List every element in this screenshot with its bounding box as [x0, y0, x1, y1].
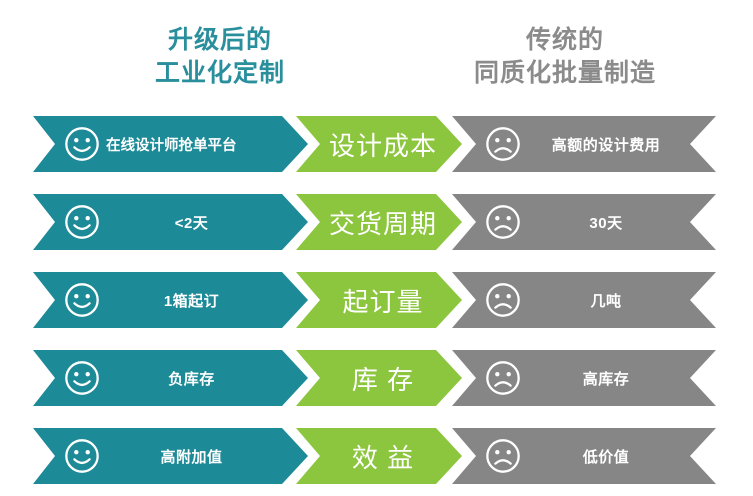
row-3-left-label: 1箱起订 [105, 290, 278, 311]
heading-traditional-line2: 同质化批量制造 [400, 57, 730, 90]
smiley-happy-face-icon [63, 203, 101, 241]
row-2-left-banner: <2天 [33, 194, 308, 250]
row-5-right-label: 低价值 [532, 446, 680, 467]
row-2-center-banner: 交货周期 [296, 194, 462, 250]
row-1-category-label: 设计成本 [312, 126, 454, 163]
comparison-row: 高附加值 效 益 低价值 [0, 428, 753, 484]
row-1-left-banner: 在线设计师抢单平台 [33, 116, 308, 172]
row-3-center-banner: 起订量 [296, 272, 462, 328]
smiley-sad-face-icon [484, 359, 522, 397]
row-4-right-label: 高库存 [532, 368, 680, 389]
row-2-category-label: 交货周期 [312, 204, 454, 241]
heading-traditional: 传统的 同质化批量制造 [400, 24, 730, 90]
headings-row: 升级后的 工业化定制 传统的 同质化批量制造 [0, 24, 753, 104]
row-5-left-label: 高附加值 [105, 446, 278, 467]
row-5-center-banner: 效 益 [296, 428, 462, 484]
row-4-left-banner: 负库存 [33, 350, 308, 406]
smiley-happy-face-icon [63, 359, 101, 397]
row-2-right-label: 30天 [532, 212, 680, 233]
row-4-right-banner: 高库存 [452, 350, 716, 406]
comparison-infographic: 升级后的 工业化定制 传统的 同质化批量制造 在线设计师抢单平台 设计成本 [0, 0, 753, 496]
row-1-left-label: 在线设计师抢单平台 [105, 134, 278, 155]
row-3-right-banner: 几吨 [452, 272, 716, 328]
comparison-row: <2天 交货周期 30天 [0, 194, 753, 250]
row-5-right-banner: 低价值 [452, 428, 716, 484]
smiley-sad-face-icon [484, 125, 522, 163]
heading-upgraded: 升级后的 工业化定制 [40, 24, 400, 90]
row-4-category-label: 库 存 [312, 360, 454, 397]
comparison-row: 负库存 库 存 高库存 [0, 350, 753, 406]
row-2-left-label: <2天 [105, 212, 278, 233]
row-5-left-banner: 高附加值 [33, 428, 308, 484]
row-4-center-banner: 库 存 [296, 350, 462, 406]
smiley-sad-face-icon [484, 437, 522, 475]
row-2-right-banner: 30天 [452, 194, 716, 250]
smiley-happy-face-icon [63, 281, 101, 319]
smiley-happy-face-icon [63, 125, 101, 163]
comparison-row: 1箱起订 起订量 几吨 [0, 272, 753, 328]
row-5-category-label: 效 益 [312, 438, 454, 475]
row-1-center-banner: 设计成本 [296, 116, 462, 172]
smiley-happy-face-icon [63, 437, 101, 475]
heading-upgraded-line2: 工业化定制 [40, 57, 400, 90]
row-4-left-label: 负库存 [105, 368, 278, 389]
comparison-rows: 在线设计师抢单平台 设计成本 高额的设计费用 [0, 116, 753, 484]
row-1-right-label: 高额的设计费用 [532, 134, 680, 155]
heading-upgraded-line1: 升级后的 [168, 26, 272, 54]
comparison-row: 在线设计师抢单平台 设计成本 高额的设计费用 [0, 116, 753, 172]
row-1-right-banner: 高额的设计费用 [452, 116, 716, 172]
heading-traditional-line1: 传统的 [526, 26, 604, 54]
smiley-sad-face-icon [484, 281, 522, 319]
row-3-right-label: 几吨 [532, 290, 680, 311]
smiley-sad-face-icon [484, 203, 522, 241]
row-3-left-banner: 1箱起订 [33, 272, 308, 328]
row-3-category-label: 起订量 [312, 282, 454, 319]
